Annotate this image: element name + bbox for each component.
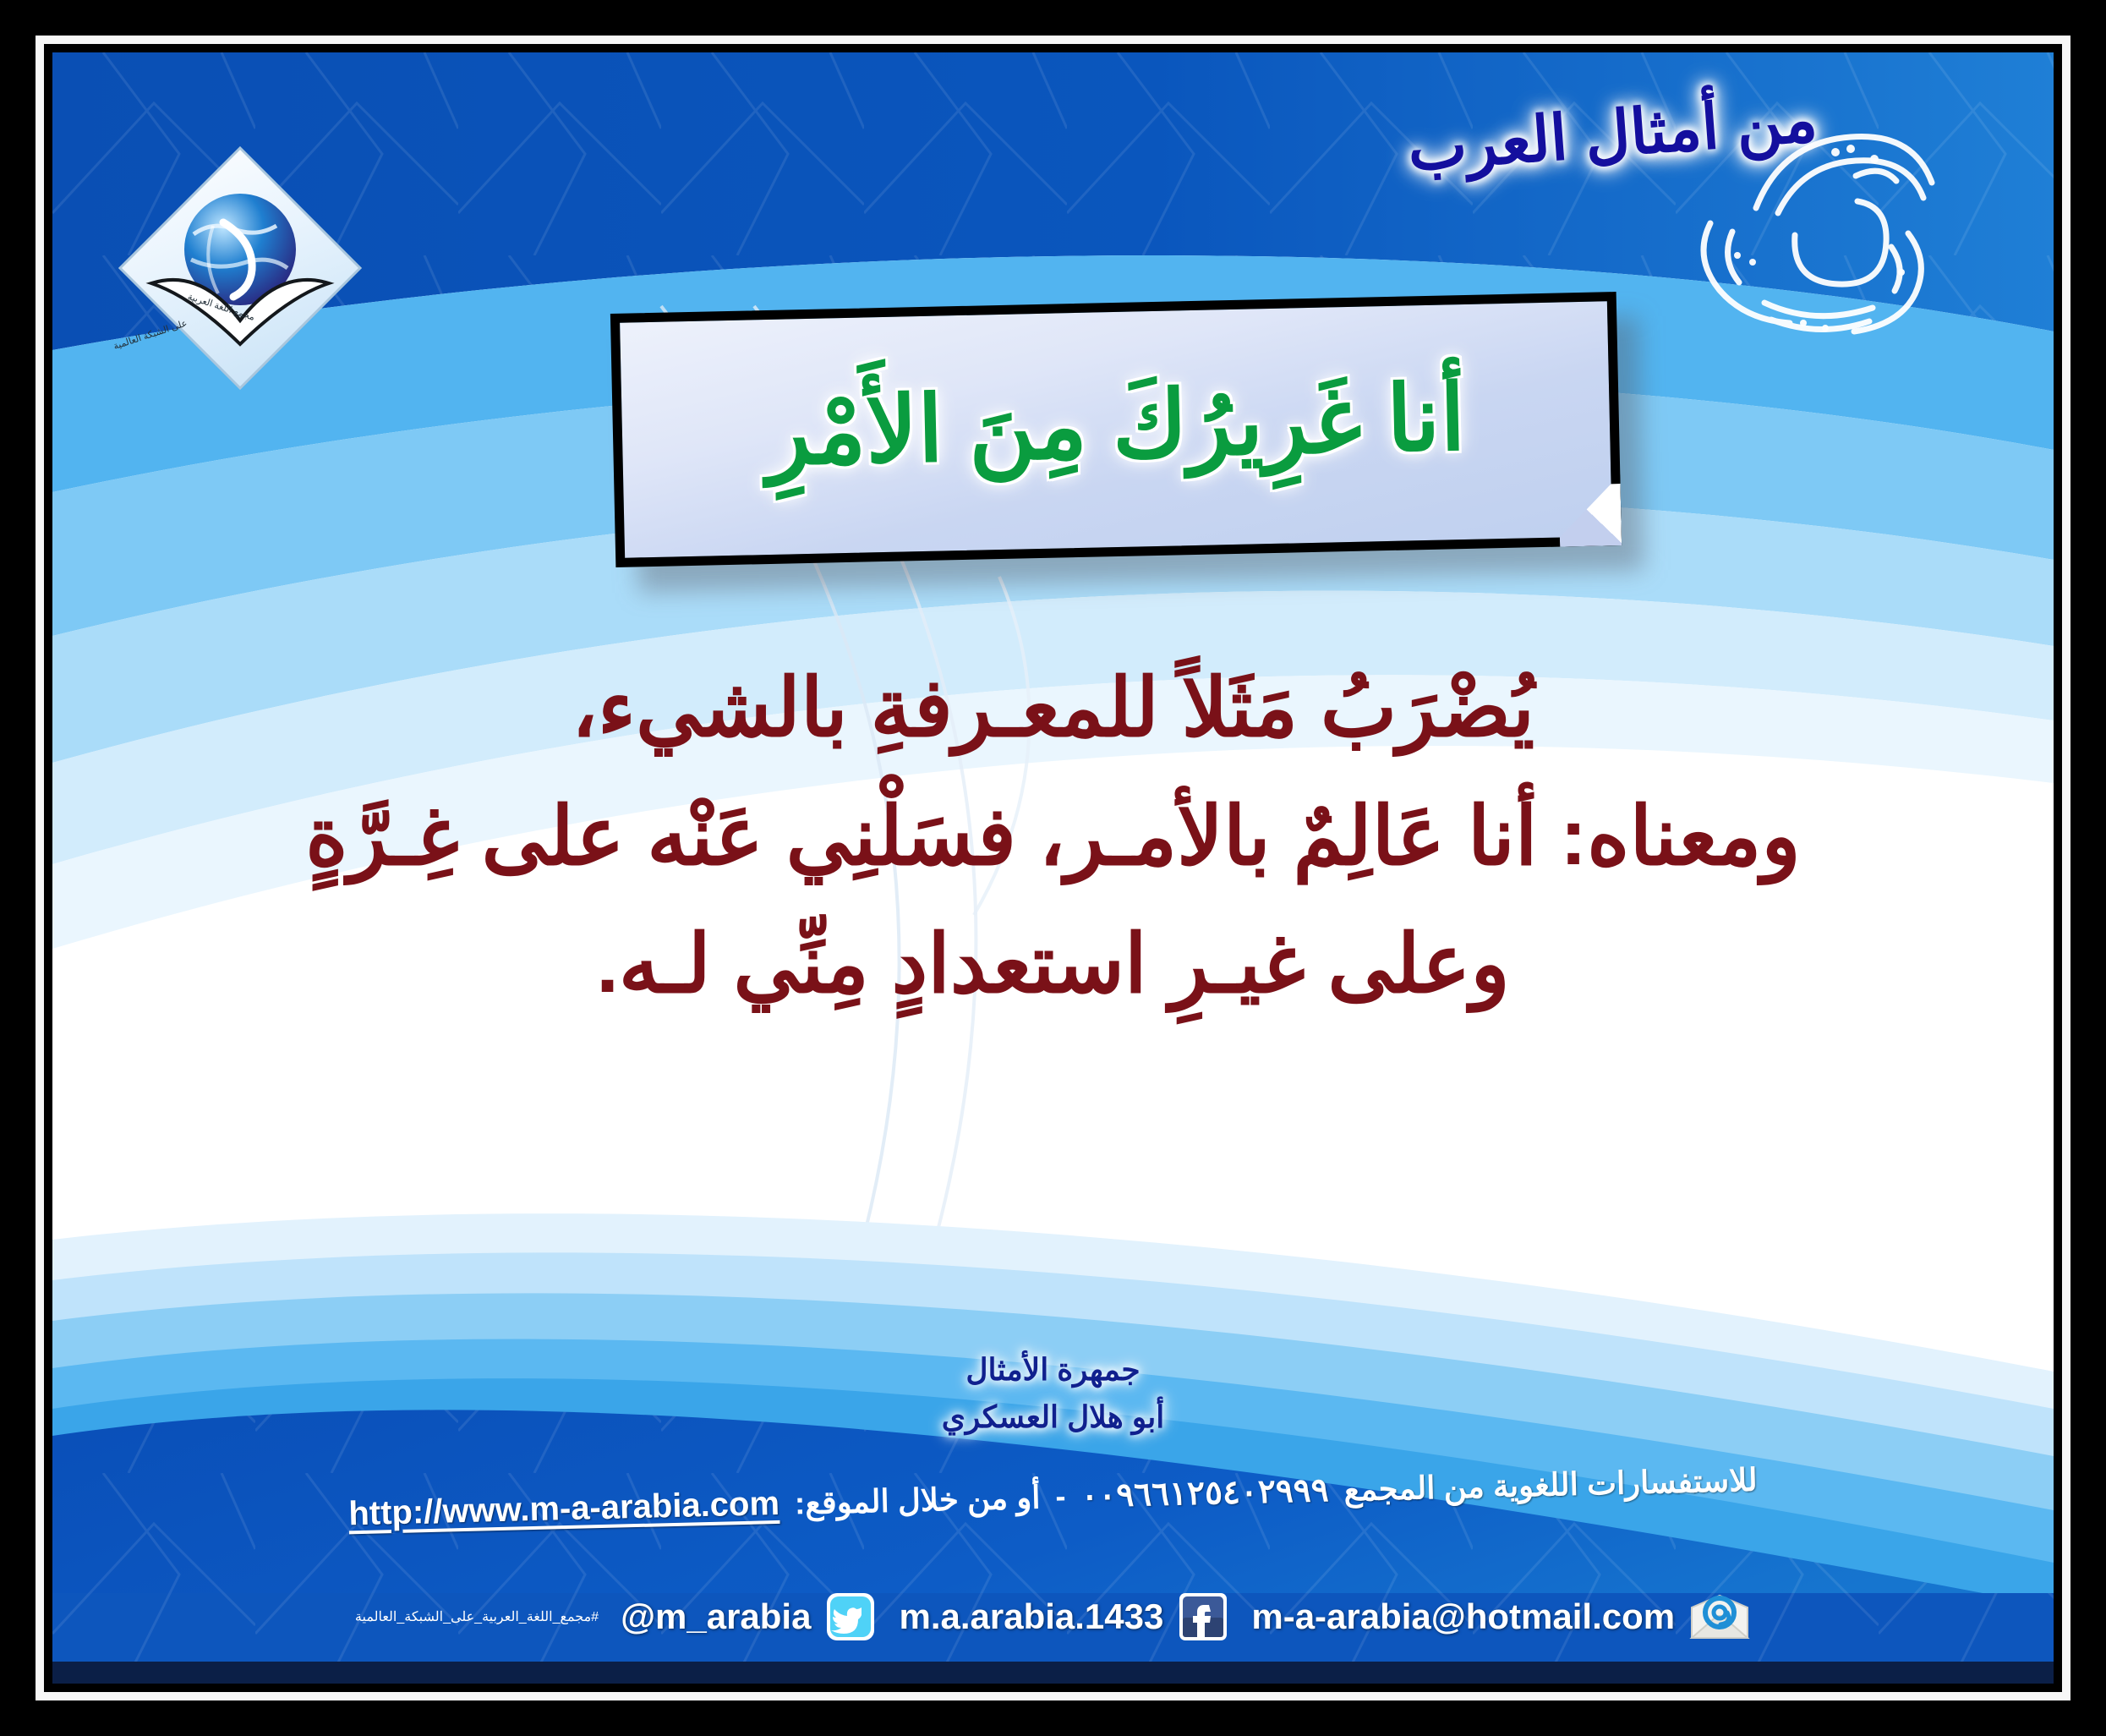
academy-calligraphy — [1629, 81, 1993, 335]
proverb-title: أنا غَرِيرُكَ مِنَ الأَمْرِ — [620, 301, 1612, 557]
website-label: أو من خلال الموقع: — [794, 1479, 1041, 1521]
email-address: m-a-arabia@hotmail.com — [1251, 1596, 1675, 1637]
artboard: من أمثال العرب — [52, 52, 2054, 1684]
twitter-bird-icon — [824, 1591, 877, 1643]
facebook-handle: m.a.arabia.1433 — [899, 1596, 1163, 1637]
academy-globe-book-logo: على الشبكة العالمية مجمع اللغة العربية — [113, 141, 367, 395]
source-citation: جمهرة الأمثال أبو هلال العسكري — [52, 1346, 2054, 1441]
twitter-handle: @m_arabia — [621, 1596, 811, 1637]
explanation-line-3: وعلى غيـرِ استعدادٍ مِنِّي لـه. — [154, 901, 1952, 1029]
hashtag: #مجمع_اللغة_العربية_على_الشبكة_العالمية — [355, 1608, 599, 1625]
facebook-item[interactable]: m.a.arabia.1433 — [899, 1591, 1229, 1643]
explanation-line-2: ومعناه: أنا عَالِمٌ بالأمـر، فسَلْنِي عَ… — [154, 773, 1952, 901]
academy-logo: على الشبكة العالمية مجمع اللغة العربية — [113, 141, 367, 395]
logo-caption-left: على الشبكة العالمية — [113, 318, 189, 352]
facebook-icon — [1177, 1591, 1229, 1643]
inquiry-label: للاستفسارات اللغوية من المجمع — [1343, 1461, 1758, 1508]
banner-box: أنا غَرِيرُكَ مِنَ الأَمْرِ — [610, 292, 1622, 567]
separator-dash: - — [1055, 1479, 1066, 1514]
source-book: جمهرة الأمثال — [52, 1346, 2054, 1394]
source-author: أبو هلال العسكري — [52, 1394, 2054, 1441]
twitter-item[interactable]: @m_arabia — [621, 1591, 877, 1643]
explanation-block: يُضْرَبُ مَثَلاً للمعـرفةِ بالشيء، ومعنا… — [154, 644, 1952, 1029]
bottom-dark-strip — [52, 1662, 2054, 1684]
arabic-calligraphy-emblem — [1629, 81, 1993, 335]
email-item[interactable]: m-a-arabia@hotmail.com — [1251, 1591, 1751, 1643]
proverb-banner: أنا غَرِيرُكَ مِنَ الأَمْرِ — [610, 292, 1622, 567]
footer-social-line: m-a-arabia@hotmail.com m.a.arabia.1433 @… — [52, 1570, 2054, 1663]
phone-number: ٠٠٩٦٦١٢٥٤٠٢٩٩٩ — [1080, 1471, 1329, 1515]
email-envelope-icon — [1688, 1591, 1751, 1643]
website-url[interactable]: http://www.m-a-arabia.com — [348, 1484, 780, 1532]
explanation-line-1: يُضْرَبُ مَثَلاً للمعـرفةِ بالشيء، — [154, 644, 1952, 773]
poster-root: من أمثال العرب — [0, 0, 2106, 1736]
